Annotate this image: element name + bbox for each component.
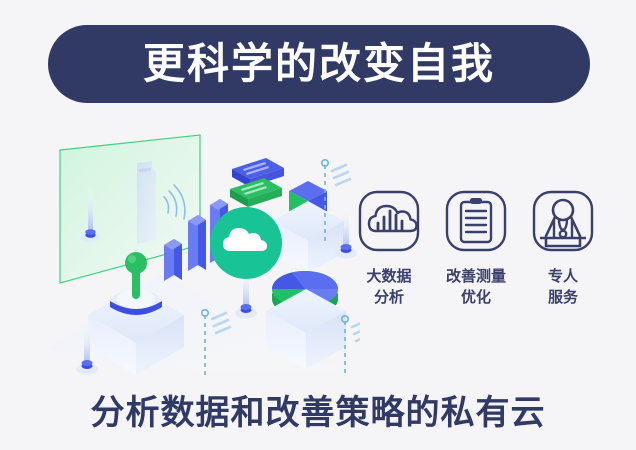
feature-item-measurement[interactable]: 改善测量 优化 <box>439 190 513 309</box>
glass-platform-right-upper <box>272 201 344 273</box>
feature-item-service[interactable]: 专人 服务 <box>526 190 600 309</box>
green-data-card <box>230 178 282 207</box>
feature-label-line2: 分析 <box>350 287 428 308</box>
promo-banner-page: 更科学的改变自我 <box>0 0 636 450</box>
cloud-badge <box>210 207 282 319</box>
bottle-silhouette <box>137 161 156 244</box>
headline-text: 更科学的改变自我 <box>143 43 495 85</box>
cloud-bar-chart-icon <box>358 190 420 252</box>
feature-list: 大数据 分析 改善测量 <box>352 190 600 309</box>
feature-label-service: 专人 服务 <box>524 266 602 309</box>
isometric-illustration <box>40 125 360 375</box>
feature-label-line1: 改善测量 <box>437 266 515 287</box>
feature-item-big-data[interactable]: 大数据 分析 <box>352 190 426 309</box>
headline-banner: 更科学的改变自我 <box>48 25 590 103</box>
feature-label-line2: 优化 <box>437 287 515 308</box>
tagline-text: 分析数据和改善策略的私有云 <box>0 385 636 434</box>
doctor-person-icon <box>532 190 594 252</box>
feature-label-line2: 服务 <box>524 287 602 308</box>
feature-label-line1: 大数据 <box>350 266 428 287</box>
clipboard-icon <box>445 190 507 252</box>
feature-label-line1: 专人 <box>524 266 602 287</box>
feature-label-measurement: 改善测量 优化 <box>437 266 515 309</box>
feature-label-big-data: 大数据 分析 <box>350 266 428 309</box>
